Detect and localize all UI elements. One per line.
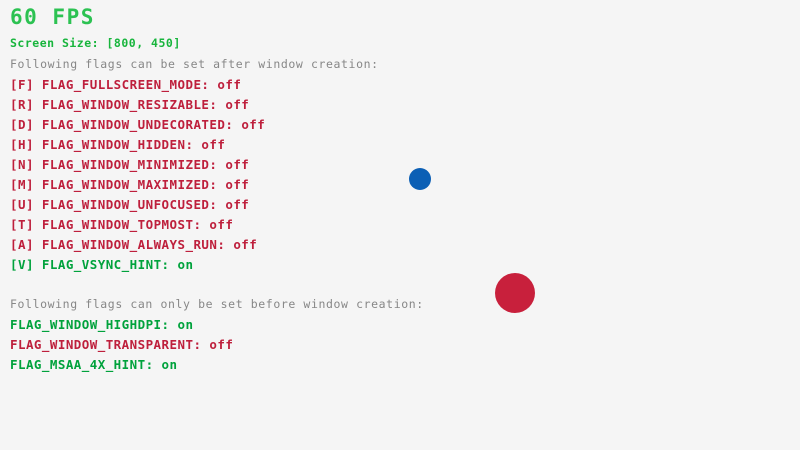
flag-name: FLAG_WINDOW_UNFOCUSED: [42, 197, 210, 212]
flag-state: off: [225, 177, 249, 192]
flag-name: FLAG_WINDOW_TOPMOST: [42, 217, 194, 232]
flag-hotkey: [V]: [10, 257, 42, 272]
flag-state: off: [209, 337, 233, 352]
flag-state: off: [217, 77, 241, 92]
flag-separator: :: [193, 337, 209, 352]
flag-state: off: [233, 237, 257, 252]
flag-hotkey: [A]: [10, 237, 42, 252]
flag-row-flag-fullscreen-mode[interactable]: [F] FLAG_FULLSCREEN_MODE: off: [10, 79, 241, 92]
creation-flags-heading: Following flags can only be set before w…: [10, 299, 424, 311]
flag-state: on: [178, 317, 194, 332]
flag-state: off: [225, 157, 249, 172]
flag-name: FLAG_WINDOW_UNDECORATED: [42, 117, 225, 132]
flag-row-flag-vsync-hint[interactable]: [V] FLAG_VSYNC_HINT: on: [10, 259, 193, 272]
raylib-window-canvas: 60 FPS Screen Size: [800, 450] Following…: [0, 0, 800, 450]
flag-hotkey: [F]: [10, 77, 42, 92]
flag-separator: :: [209, 177, 225, 192]
flag-row-flag-window-minimized[interactable]: [N] FLAG_WINDOW_MINIMIZED: off: [10, 159, 249, 172]
flag-separator: :: [193, 217, 209, 232]
flag-name: FLAG_WINDOW_HIDDEN: [42, 137, 186, 152]
flag-name: FLAG_WINDOW_ALWAYS_RUN: [42, 237, 217, 252]
flag-name: FLAG_MSAA_4X_HINT: [10, 357, 146, 372]
flag-separator: :: [225, 117, 241, 132]
flag-separator: :: [201, 77, 217, 92]
flag-row-flag-window-hidden[interactable]: [H] FLAG_WINDOW_HIDDEN: off: [10, 139, 225, 152]
flag-name: FLAG_FULLSCREEN_MODE: [42, 77, 202, 92]
flag-state: on: [162, 357, 178, 372]
flag-name: FLAG_WINDOW_RESIZABLE: [42, 97, 210, 112]
flag-state: off: [225, 197, 249, 212]
flag-hotkey: [D]: [10, 117, 42, 132]
flag-hotkey: [N]: [10, 157, 42, 172]
flag-hotkey: [M]: [10, 177, 42, 192]
flag-name: FLAG_WINDOW_MAXIMIZED: [42, 177, 210, 192]
flag-separator: :: [209, 97, 225, 112]
flag-separator: :: [146, 357, 162, 372]
flag-hotkey: [R]: [10, 97, 42, 112]
flag-state: off: [225, 97, 249, 112]
screen-size-label: Screen Size: [800, 450]: [10, 38, 181, 50]
flag-state: off: [209, 217, 233, 232]
flag-hotkey: [T]: [10, 217, 42, 232]
flag-name: FLAG_VSYNC_HINT: [42, 257, 162, 272]
flag-row-flag-window-resizable[interactable]: [R] FLAG_WINDOW_RESIZABLE: off: [10, 99, 249, 112]
hud-overlay: 60 FPS Screen Size: [800, 450] Following…: [0, 0, 560, 450]
flag-separator: :: [209, 157, 225, 172]
flag-separator: :: [162, 317, 178, 332]
flag-state: on: [178, 257, 194, 272]
flag-row-flag-window-always-run[interactable]: [A] FLAG_WINDOW_ALWAYS_RUN: off: [10, 239, 257, 252]
flag-row-flag-msaa-4x-hint[interactable]: FLAG_MSAA_4X_HINT: on: [10, 359, 178, 372]
flag-row-flag-window-topmost[interactable]: [T] FLAG_WINDOW_TOPMOST: off: [10, 219, 233, 232]
flag-name: FLAG_WINDOW_HIGHDPI: [10, 317, 162, 332]
flag-name: FLAG_WINDOW_MINIMIZED: [42, 157, 210, 172]
flag-row-flag-window-transparent[interactable]: FLAG_WINDOW_TRANSPARENT: off: [10, 339, 233, 352]
flag-row-flag-window-unfocused[interactable]: [U] FLAG_WINDOW_UNFOCUSED: off: [10, 199, 249, 212]
flag-state: off: [241, 117, 265, 132]
fps-counter: 60 FPS: [10, 7, 95, 28]
runtime-flags-heading: Following flags can be set after window …: [10, 59, 379, 71]
flag-name: FLAG_WINDOW_TRANSPARENT: [10, 337, 193, 352]
flag-hotkey: [H]: [10, 137, 42, 152]
flag-row-flag-window-undecorated[interactable]: [D] FLAG_WINDOW_UNDECORATED: off: [10, 119, 265, 132]
flag-separator: :: [162, 257, 178, 272]
flag-separator: :: [209, 197, 225, 212]
flag-state: off: [201, 137, 225, 152]
flag-separator: :: [185, 137, 201, 152]
flag-row-flag-window-highdpi[interactable]: FLAG_WINDOW_HIGHDPI: on: [10, 319, 193, 332]
flag-separator: :: [217, 237, 233, 252]
flag-row-flag-window-maximized[interactable]: [M] FLAG_WINDOW_MAXIMIZED: off: [10, 179, 249, 192]
flag-hotkey: [U]: [10, 197, 42, 212]
